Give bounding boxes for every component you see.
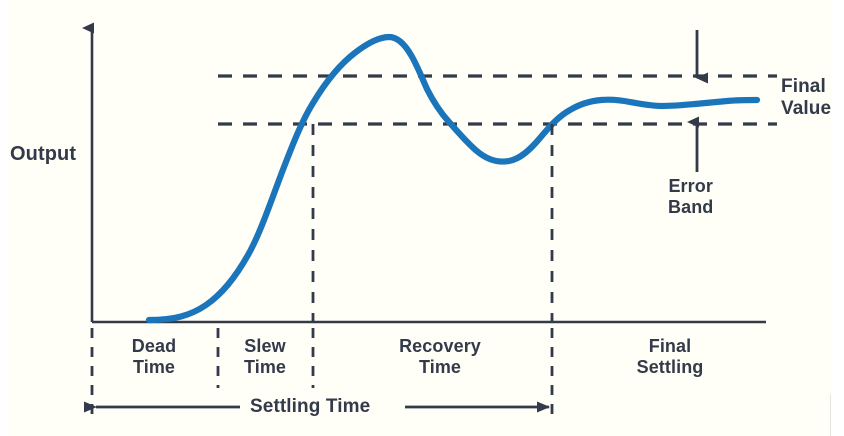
settling-time-diagram: Output Final Value Error Band Dead Time … — [0, 0, 844, 436]
segment-label-recovery-time: Recovery Time — [330, 336, 550, 378]
settling-time-label: Settling Time — [250, 396, 370, 418]
curve-dropline-group — [313, 124, 552, 322]
error-band-label: Error Band — [668, 176, 713, 218]
axes — [92, 28, 766, 322]
step-response-curve — [149, 37, 757, 320]
y-axis-label: Output — [10, 143, 76, 166]
segment-label-dead-time: Dead Time — [108, 336, 200, 378]
error-band-lines — [218, 76, 777, 124]
segment-label-final-settling: Final Settling — [570, 336, 770, 378]
final-value-label: Final Value — [781, 76, 831, 120]
segment-label-slew-time: Slew Time — [222, 336, 308, 378]
